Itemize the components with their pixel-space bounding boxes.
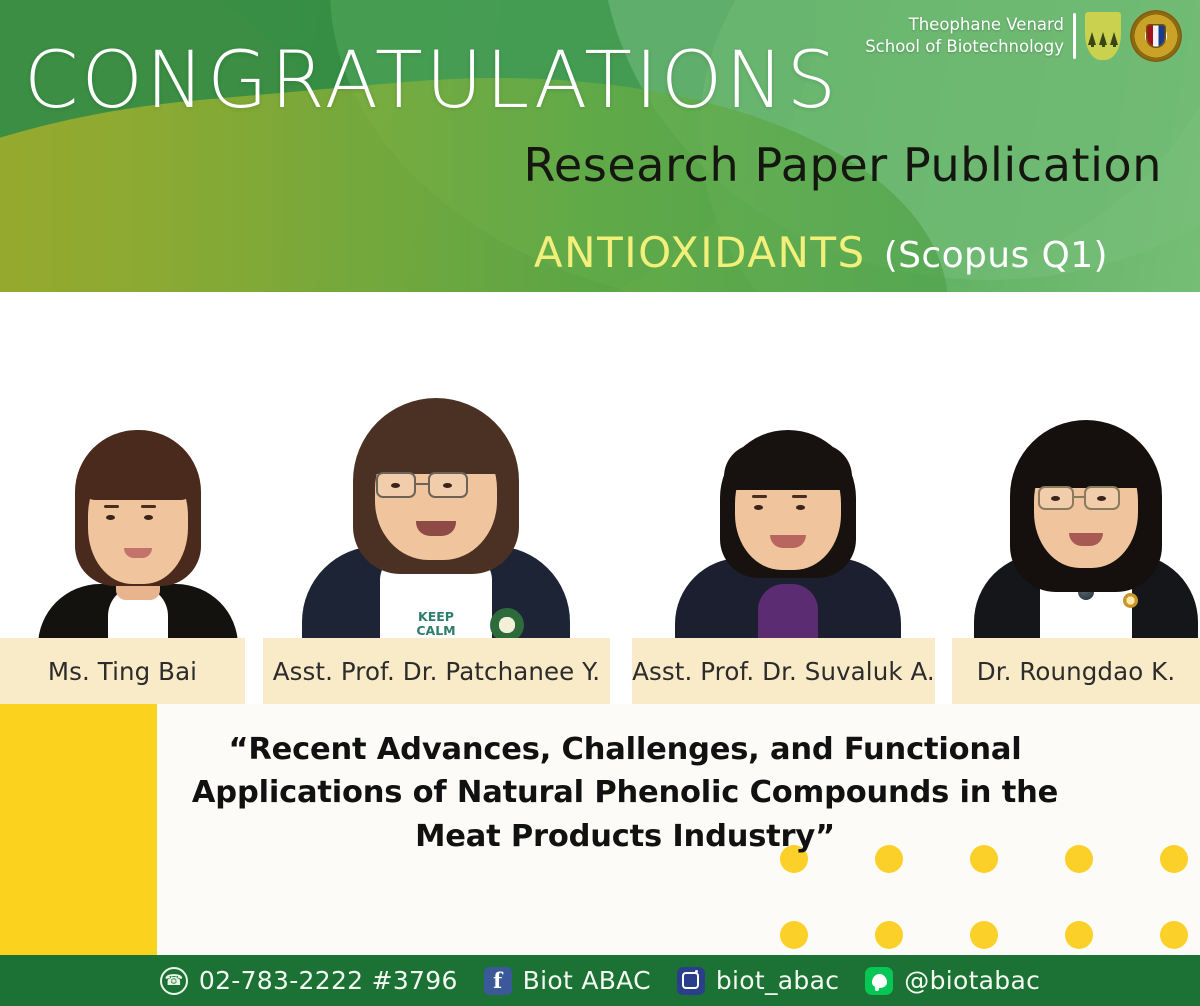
author-name-bar: Asst. Prof. Dr. Suvaluk A. (632, 638, 935, 704)
glasses-bridge (1074, 496, 1084, 498)
contact-label: Biot ABAC (523, 966, 651, 995)
brow-left (104, 505, 119, 508)
emblem-badge (490, 608, 524, 642)
glasses-bridge (416, 483, 428, 485)
header-subtitle: Research Paper Publication (523, 142, 1162, 188)
contact-label: biot_abac (716, 966, 839, 995)
brand-lockup: Theophane Venard School of Biotechnology (865, 10, 1182, 62)
quartile-badge: (Scopus Q1) (884, 238, 1108, 274)
eye-left (106, 515, 115, 520)
author-name-bar: Ms. Ting Bai (0, 638, 245, 704)
eye-left (1051, 496, 1060, 501)
paper-title-section: “Recent Advances, Challenges, and Functi… (0, 704, 1200, 955)
eye-left (391, 483, 400, 488)
author-name-bar: Dr. Roungdao K. (952, 638, 1200, 704)
assumption-university-seal-icon (1130, 10, 1182, 62)
contact-footer: ☎ 02-783-2222 #3796 f Biot ABAC biot_aba… (0, 955, 1200, 1006)
eye-right (1097, 496, 1106, 501)
instagram-icon (677, 967, 705, 995)
contact-label: @biotabac (904, 966, 1040, 995)
eye-left (754, 505, 763, 510)
author-name: Dr. Roungdao K. (977, 657, 1175, 686)
contact-label: 02-783-2222 #3796 (199, 966, 458, 995)
eye-right (144, 515, 153, 520)
brand-divider (1073, 13, 1076, 59)
facebook-icon: f (484, 967, 512, 995)
hair-front (82, 456, 194, 500)
author-photo-strip: KEEPCALMANDBEFoodBiotechnologist (0, 292, 1200, 704)
page-title: CONGRATULATIONS (24, 42, 839, 120)
paper-title: “Recent Advances, Challenges, and Functi… (175, 728, 1075, 858)
brow-left (752, 495, 767, 498)
journal-row: ANTIOXIDANTS (Scopus Q1) (534, 232, 1108, 274)
author-name: Asst. Prof. Dr. Suvaluk A. (632, 657, 935, 686)
brow-right (141, 505, 156, 508)
brow-right (792, 495, 807, 498)
line-icon (865, 967, 893, 995)
contact-line[interactable]: @biotabac (865, 966, 1040, 995)
contact-instagram[interactable]: biot_abac (677, 966, 839, 995)
contact-phone[interactable]: ☎ 02-783-2222 #3796 (160, 966, 458, 995)
school-shield-icon (1085, 12, 1121, 60)
brand-line-1: Theophane Venard (865, 14, 1064, 36)
congratulations-poster: Theophane Venard School of Biotechnology… (0, 0, 1200, 1006)
poster-header: Theophane Venard School of Biotechnology… (0, 0, 1200, 292)
eye-right (796, 505, 805, 510)
lapel-pin (1123, 593, 1138, 608)
eye-right (443, 483, 452, 488)
hair-front (1023, 442, 1149, 488)
journal-name: ANTIOXIDANTS (534, 232, 866, 274)
brand-line-2: School of Biotechnology (865, 36, 1064, 58)
brand-text: Theophane Venard School of Biotechnology (865, 14, 1064, 58)
contact-facebook[interactable]: f Biot ABAC (484, 966, 651, 995)
phone-icon: ☎ (160, 967, 188, 995)
yellow-accent-block (0, 704, 157, 955)
author-name: Ms. Ting Bai (48, 657, 197, 686)
author-name-bar: Asst. Prof. Dr. Patchanee Y. (263, 638, 610, 704)
author-name: Asst. Prof. Dr. Patchanee Y. (273, 657, 600, 686)
hair-front (724, 444, 852, 490)
hair-front (364, 424, 508, 474)
